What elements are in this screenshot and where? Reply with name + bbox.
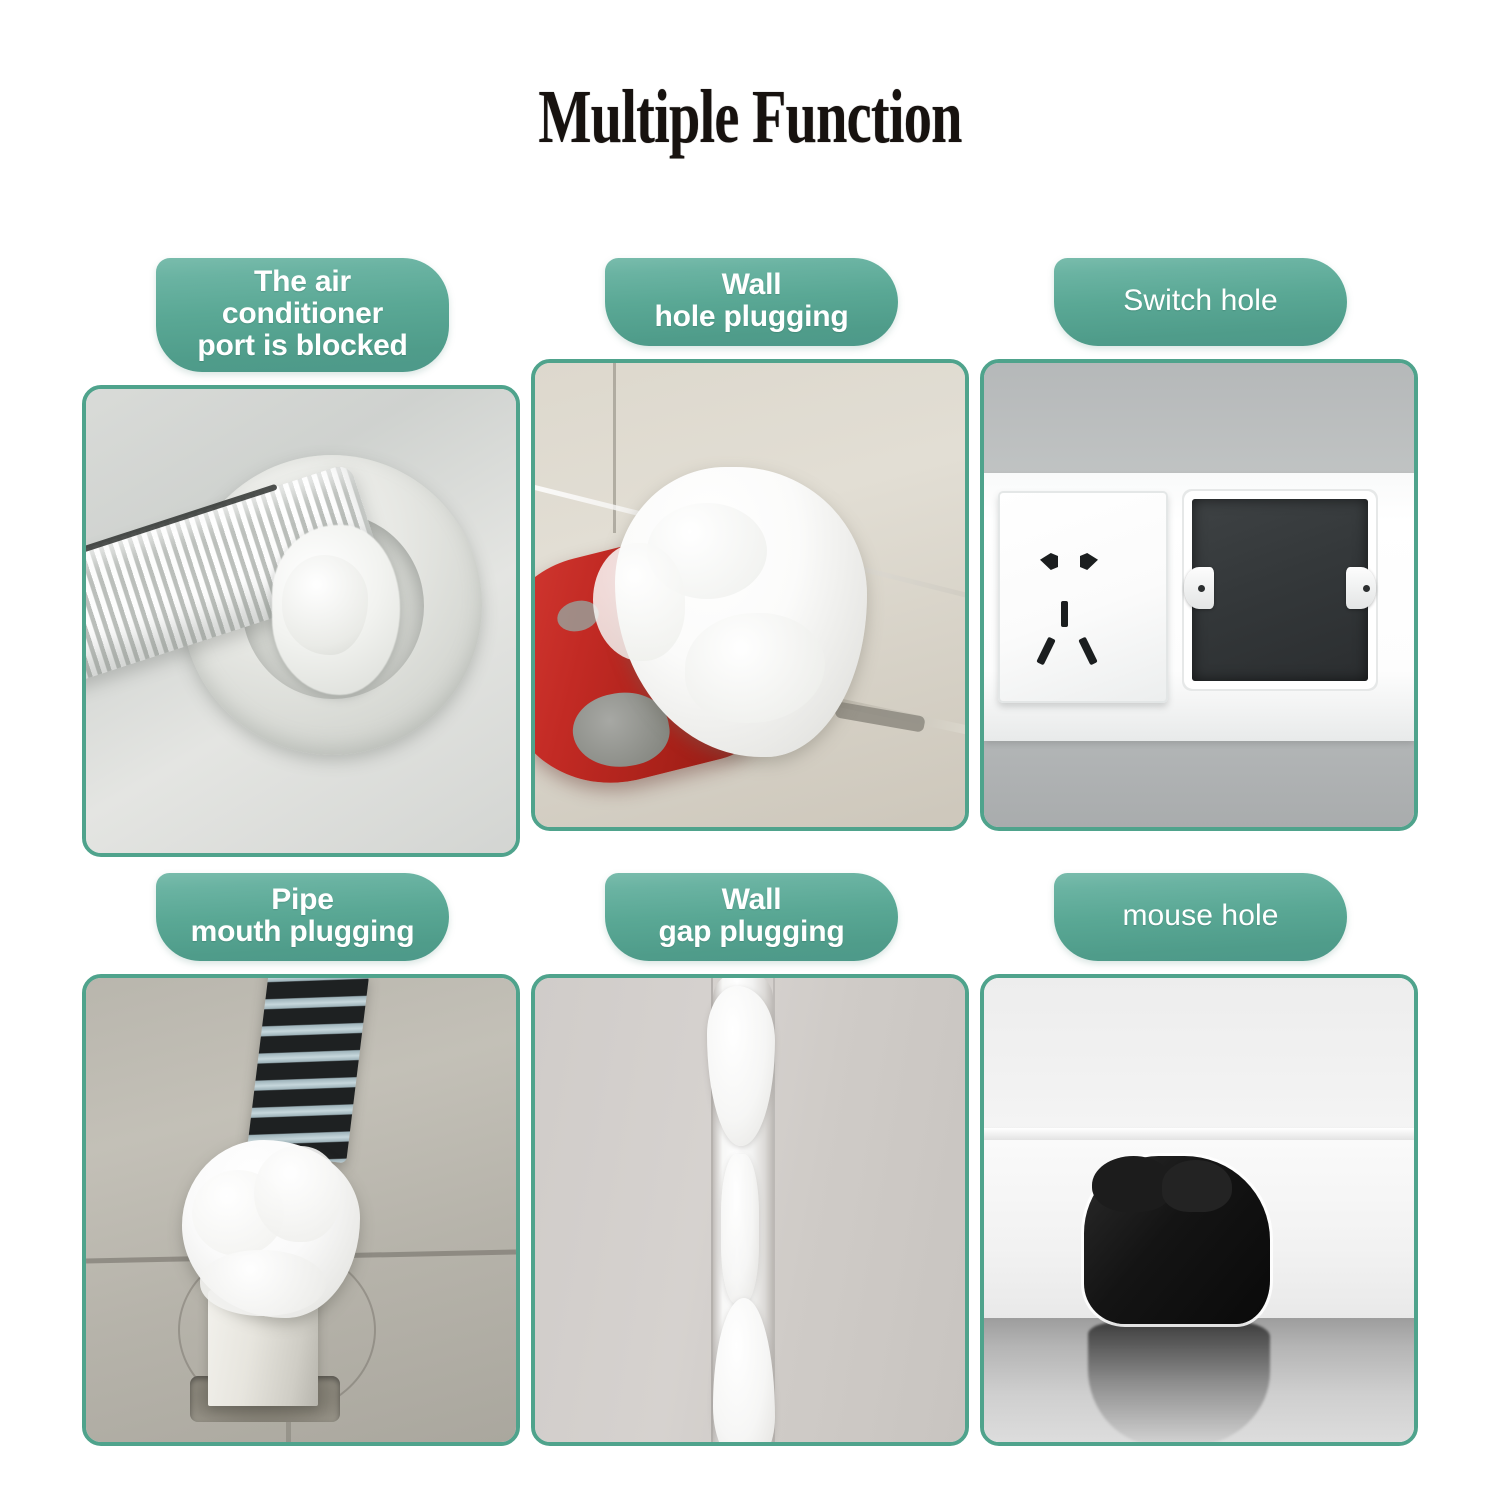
black-foam-lobe-shape	[1092, 1156, 1172, 1212]
photo-air-conditioner-port	[86, 389, 516, 853]
foam-bubble-shape	[254, 1146, 340, 1242]
socket-pin-earth-icon	[1061, 601, 1068, 627]
label-pill-mouse-hole: mouse hole	[1054, 873, 1347, 961]
photo-frame-wall-hole-plugging	[531, 359, 969, 831]
foam-bubble-shape	[200, 1250, 326, 1316]
corrugated-hose-shape	[247, 978, 369, 1163]
black-foam-lobe-shape	[1162, 1160, 1232, 1212]
wall-shape	[984, 978, 1414, 1130]
feature-card-mouse-hole: mouse hole	[980, 873, 1418, 1446]
label-pill-switch-hole: Switch hole	[1054, 258, 1347, 346]
wall-upper-shape	[984, 363, 1414, 475]
label-text: The air conditioner port is blocked	[170, 266, 435, 362]
feature-card-wall-hole-plugging: Wall hole plugging	[531, 258, 969, 857]
photo-wall-gap-plugging	[535, 978, 965, 1442]
mounting-ear-right-shape	[1346, 567, 1376, 609]
foam-bubble-shape	[593, 543, 685, 661]
photo-wall-hole-plugging	[535, 363, 965, 827]
label-text: Wall hole plugging	[654, 269, 848, 333]
feature-card-wall-gap-plugging: Wall gap plugging	[531, 873, 969, 1446]
label-pill-pipe-mouth-plugging: Pipe mouth plugging	[156, 873, 449, 961]
socket-pin-live-icon	[1036, 637, 1055, 666]
label-pill-wall-hole-plugging: Wall hole plugging	[605, 258, 898, 346]
screw-right-icon	[1363, 585, 1370, 592]
label-text: mouse hole	[1122, 900, 1278, 932]
photo-frame-pipe-mouth-plugging	[82, 974, 520, 1446]
foam-sealant-highlight-shape	[282, 555, 368, 655]
feature-card-pipe-mouth-plugging: Pipe mouth plugging	[82, 873, 520, 1446]
label-text: Wall gap plugging	[659, 884, 845, 948]
photo-frame-air-conditioner-port	[82, 385, 520, 857]
baseboard-trim-shape	[984, 1128, 1414, 1140]
socket-pin-right-icon	[1080, 553, 1098, 570]
label-text: Switch hole	[1123, 285, 1278, 317]
photo-mouse-hole	[984, 978, 1414, 1442]
photo-frame-mouse-hole	[980, 974, 1418, 1446]
label-pill-air-conditioner-port: The air conditioner port is blocked	[156, 258, 449, 372]
feature-grid: The air conditioner port is blocked Wall…	[82, 258, 1418, 1446]
wall-lower-shape	[984, 733, 1414, 827]
label-pill-wall-gap-plugging: Wall gap plugging	[605, 873, 898, 961]
foam-reflection-shape	[1088, 1322, 1270, 1442]
photo-frame-wall-gap-plugging	[531, 974, 969, 1446]
socket-pin-neutral-icon	[1078, 637, 1097, 666]
photo-frame-switch-hole	[980, 359, 1418, 831]
socket-pin-left-icon	[1040, 553, 1058, 570]
switch-box-cavity-shape	[1192, 499, 1368, 681]
screw-left-icon	[1198, 585, 1205, 592]
feature-card-switch-hole: Switch hole	[980, 258, 1418, 857]
photo-switch-hole	[984, 363, 1414, 827]
feature-card-air-conditioner-port: The air conditioner port is blocked	[82, 258, 520, 857]
photo-pipe-mouth-plugging	[86, 978, 516, 1442]
page-title: Multiple Function	[195, 74, 1305, 161]
power-socket-shape	[998, 491, 1168, 703]
sealant-blob-shape	[721, 1154, 759, 1304]
infographic-page: Multiple Function The air conditioner po…	[0, 0, 1500, 1500]
label-text: Pipe mouth plugging	[191, 884, 415, 948]
